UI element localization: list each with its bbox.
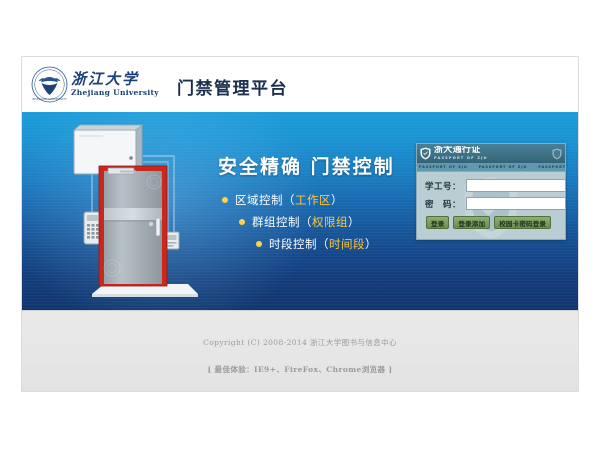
feature-label: 群组控制（ <box>252 214 312 230</box>
site-header: ZHEJIANG UNIVERSITY 浙江大学 Zhejiang Univer… <box>22 57 578 112</box>
feature-item-group-control: 群组控制（ 权限组 ） <box>222 214 377 230</box>
feature-tail: ） <box>331 192 343 208</box>
login-form: 学工号： 密 码： 登录 登录添加 校园卡密码登录 <box>417 172 565 229</box>
campus-card-login-button[interactable]: 校园卡密码登录 <box>494 216 551 229</box>
login-panel-title-cn: 浙大通行证 <box>434 146 552 155</box>
app-root: ZHEJIANG UNIVERSITY 浙江大学 Zhejiang Univer… <box>0 0 600 450</box>
feature-accent: 权限组 <box>312 214 348 230</box>
login-panel-strip: PASSPORT OF ZJU PASSPORT OF ZJU PASSPORT… <box>417 163 565 172</box>
brand-logo-text: 浙江大学 Zhejiang University <box>71 72 159 97</box>
banner-feature-list: 区域控制（ 工作区 ） 群组控制（ 权限组 ） 时段控制（ 时间段 ） <box>222 192 377 258</box>
strip-text: PASSPORT OF ZJU <box>477 165 537 169</box>
brand-logo[interactable]: ZHEJIANG UNIVERSITY 浙江大学 Zhejiang Univer… <box>31 66 159 103</box>
strip-text: PASSPORT OF ZJU <box>536 165 565 169</box>
password-input[interactable] <box>466 197 566 210</box>
feature-item-area-control: 区域控制（ 工作区 ） <box>222 192 377 208</box>
svg-text:ZHEJIANG UNIVERSITY: ZHEJIANG UNIVERSITY <box>32 97 67 101</box>
login-panel-title-group: 浙大通行证 PASSPORT OF ZJU <box>434 146 552 160</box>
keypad-reader-icon <box>84 212 101 244</box>
banner-headline: 安全精确 门禁控制 <box>218 152 395 179</box>
door-closer-icon <box>108 168 136 174</box>
login-panel-title-en: PASSPORT OF ZJU <box>434 157 552 161</box>
brand-name-en: Zhejiang University <box>71 89 159 97</box>
feature-tail: ） <box>365 236 377 252</box>
userid-input[interactable] <box>466 179 566 192</box>
login-button[interactable]: 登录 <box>426 216 449 229</box>
platform-title: 门禁管理平台 <box>177 74 288 99</box>
access-control-door-diagram <box>46 116 206 306</box>
shield-icon <box>420 147 431 160</box>
feature-item-time-control: 时段控制（ 时间段 ） <box>222 236 377 252</box>
feature-label: 时段控制（ <box>269 236 329 252</box>
brand-name-cn: 浙江大学 <box>71 72 159 87</box>
password-label: 密 码： <box>425 198 466 210</box>
bullet-dot-icon <box>239 219 245 225</box>
footer-copyright: Copyright (C) 2008-2014 浙江大学图书与信息中心 <box>22 311 578 348</box>
userid-label: 学工号： <box>425 180 466 192</box>
feature-accent: 工作区 <box>295 192 331 208</box>
strip-text: PASSPORT OF ZJU <box>417 165 477 169</box>
login-panel-body: 学工号： 密 码： 登录 登录添加 校园卡密码登录 <box>417 172 565 240</box>
bullet-dot-icon <box>256 241 262 247</box>
bullet-dot-icon <box>222 197 228 203</box>
login-add-button[interactable]: 登录添加 <box>453 216 490 229</box>
login-button-group: 登录 登录添加 校园卡密码登录 <box>425 216 557 229</box>
login-panel-titlebar: 浙大通行证 PASSPORT OF ZJU <box>417 144 565 163</box>
login-panel: 浙大通行证 PASSPORT OF ZJU PASSPORT OF ZJU PA… <box>416 143 566 240</box>
feature-label: 区域控制（ <box>235 192 295 208</box>
hero-banner: 安全精确 门禁控制 区域控制（ 工作区 ） 群组控制（ 权限组 ） 时段 <box>22 112 578 310</box>
login-field-password: 密 码： <box>425 197 557 210</box>
login-field-userid: 学工号： <box>425 179 557 192</box>
shield-icon <box>552 148 562 160</box>
zju-seal-icon: ZHEJIANG UNIVERSITY <box>31 66 68 103</box>
page-panel: ZHEJIANG UNIVERSITY 浙江大学 Zhejiang Univer… <box>21 56 579 392</box>
feature-accent: 时间段 <box>329 236 365 252</box>
site-footer: Copyright (C) 2008-2014 浙江大学图书与信息中心 [ 最佳… <box>22 310 578 392</box>
feature-tail: ） <box>348 214 360 230</box>
footer-browser-notice: [ 最佳体验：IE9+、FireFox、Chrome浏览器 ] <box>22 348 578 375</box>
